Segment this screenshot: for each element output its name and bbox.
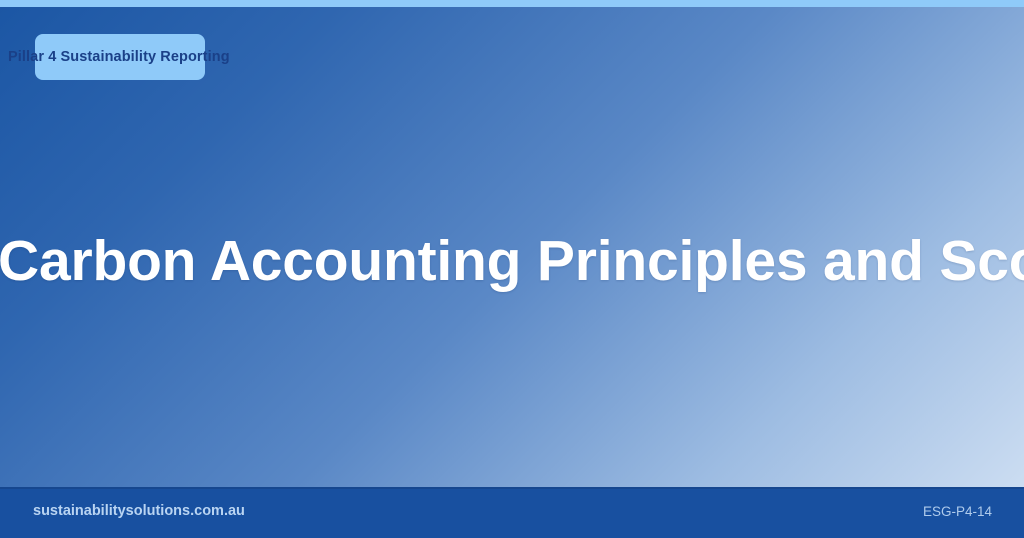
- top-accent-strip: [0, 0, 1024, 7]
- footer-bar: sustainabilitysolutions.com.au ESG-P4-14: [0, 487, 1024, 538]
- page-title: Carbon Accounting Principles and Scope D…: [0, 227, 1024, 295]
- eyebrow-label: Pillar 4 Sustainability Reporting: [8, 46, 608, 68]
- footer-website: sustainabilitysolutions.com.au: [33, 503, 245, 519]
- footer-slide-code: ESG-P4-14: [923, 504, 992, 519]
- title-slide: Pillar 4 Sustainability Reporting Carbon…: [0, 0, 1024, 538]
